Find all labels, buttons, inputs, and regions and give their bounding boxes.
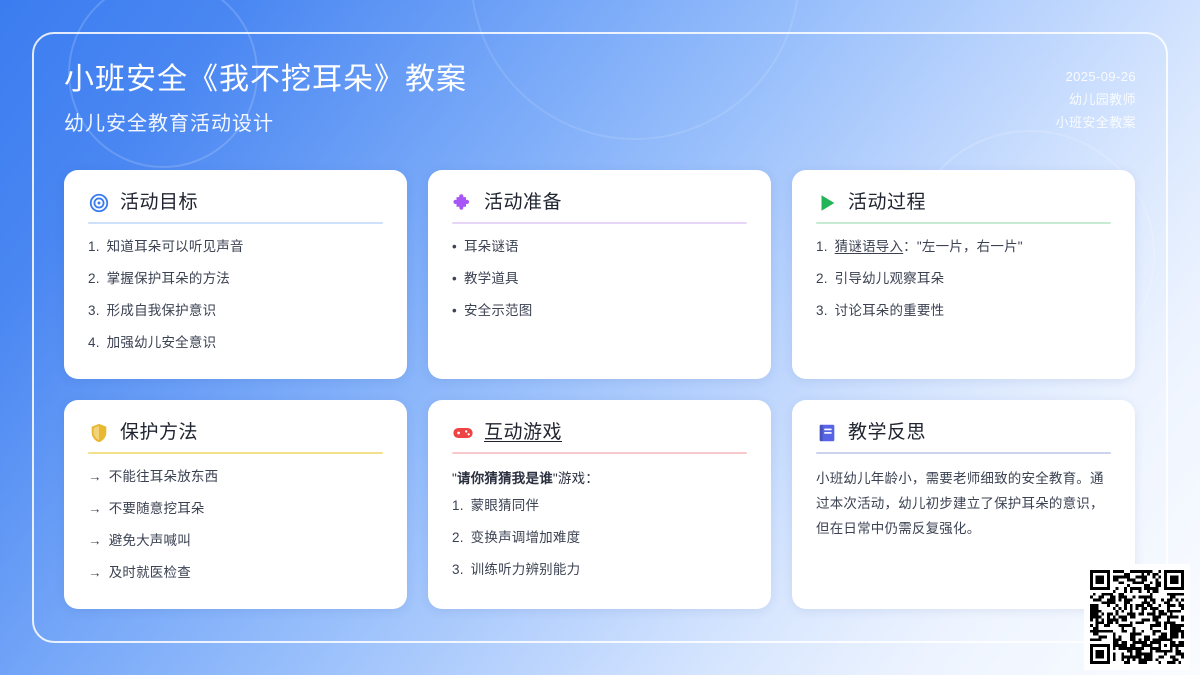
card-item-list: 1.知道耳朵可以听见声音2.掌握保护耳朵的方法3.形成自我保护意识4.加强幼儿安… — [88, 237, 383, 354]
list-item-text: 变换声调增加难度 — [471, 528, 581, 549]
list-marker: 4. — [88, 333, 100, 354]
list-item-text: 训练听力辨别能力 — [471, 560, 581, 581]
card-accent-rule — [88, 222, 383, 224]
card-item-list: →不能往耳朵放东西→不要随意挖耳朵→避免大声喊叫→及时就医检查 — [88, 467, 383, 584]
list-item: 1.知道耳朵可以听见声音 — [88, 237, 383, 258]
card-accent-rule — [88, 452, 383, 454]
list-item-text: 教学道具 — [464, 269, 519, 290]
game-lead-text: "请你猜猜我是谁"游戏： — [452, 467, 747, 487]
list-item-text: 安全示范图 — [464, 301, 533, 322]
shield-icon — [88, 422, 110, 444]
card-accent-rule — [452, 222, 747, 224]
list-item-text: 掌握保护耳朵的方法 — [107, 269, 230, 290]
list-item-text: 加强幼儿安全意识 — [107, 333, 217, 354]
target-icon — [88, 192, 110, 214]
header: 小班安全《我不挖耳朵》教案 幼儿安全教育活动设计 2025-09-26 幼儿园教… — [64, 52, 1136, 152]
meta-category: 小班安全教案 — [1056, 112, 1136, 135]
qr-code-container — [1084, 564, 1190, 670]
list-item: 3.讨论耳朵的重要性 — [816, 301, 1111, 322]
meta-date: 2025-09-26 — [1056, 66, 1136, 89]
card-accent-rule — [452, 452, 747, 454]
list-marker: 1. — [816, 237, 828, 258]
page-title: 小班安全《我不挖耳朵》教案 — [64, 60, 467, 99]
list-marker: 1. — [88, 237, 100, 258]
puzzle-icon — [452, 192, 474, 214]
game-name: 请你猜猜我是谁 — [457, 471, 553, 486]
list-marker: • — [452, 301, 457, 322]
list-item-text: 耳朵谜语 — [464, 237, 519, 258]
card-title: 活动目标 — [120, 192, 198, 215]
card-header: 活动过程 — [816, 192, 1111, 215]
card-process: 活动过程1.猜谜语导入："左一片，右一片"2.引导幼儿观察耳朵3.讨论耳朵的重要… — [792, 170, 1135, 379]
list-marker: 3. — [88, 301, 100, 322]
list-marker: 2. — [816, 269, 828, 290]
book-icon — [816, 422, 838, 444]
list-item-text: 猜谜语导入："左一片，右一片" — [835, 237, 1023, 258]
list-marker: 3. — [816, 301, 828, 322]
list-marker: → — [88, 467, 102, 488]
card-item-list: 1.猜谜语导入："左一片，右一片"2.引导幼儿观察耳朵3.讨论耳朵的重要性 — [816, 237, 1111, 322]
meta-author: 幼儿园教师 — [1056, 89, 1136, 112]
list-item: 2.掌握保护耳朵的方法 — [88, 269, 383, 290]
list-marker: • — [452, 237, 457, 258]
list-item: •教学道具 — [452, 269, 747, 290]
card-game: 互动游戏"请你猜猜我是谁"游戏：1.蒙眼猜同伴2.变换声调增加难度3.训练听力辨… — [428, 400, 771, 609]
list-item: 2.引导幼儿观察耳朵 — [816, 269, 1111, 290]
card-paragraph: 小班幼儿年龄小，需要老师细致的安全教育。通过本次活动，幼儿初步建立了保护耳朵的意… — [816, 467, 1111, 542]
list-item: 1.猜谜语导入："左一片，右一片" — [816, 237, 1111, 258]
list-marker: 3. — [452, 560, 464, 581]
list-marker: → — [88, 499, 102, 520]
card-title: 活动过程 — [848, 192, 926, 215]
list-item: •耳朵谜语 — [452, 237, 747, 258]
card-header: 保护方法 — [88, 422, 383, 445]
list-item: →不能往耳朵放东西 — [88, 467, 383, 488]
list-marker: 2. — [88, 269, 100, 290]
header-title-block: 小班安全《我不挖耳朵》教案 幼儿安全教育活动设计 — [64, 52, 467, 136]
list-item: 3.形成自我保护意识 — [88, 301, 383, 322]
page-subtitle: 幼儿安全教育活动设计 — [64, 107, 467, 136]
list-item: 2.变换声调增加难度 — [452, 528, 747, 549]
card-accent-rule — [816, 222, 1111, 224]
list-marker: → — [88, 563, 102, 584]
card-item-list: •耳朵谜语•教学道具•安全示范图 — [452, 237, 747, 322]
list-item-text: 及时就医检查 — [109, 563, 191, 584]
list-item: →及时就医检查 — [88, 563, 383, 584]
card-header: 教学反思 — [816, 422, 1111, 445]
card-accent-rule — [816, 452, 1111, 454]
list-marker: 2. — [452, 528, 464, 549]
qr-code[interactable] — [1090, 570, 1184, 664]
card-header: 活动准备 — [452, 192, 747, 215]
card-title: 活动准备 — [484, 192, 562, 215]
play-icon — [816, 192, 838, 214]
list-item: 3.训练听力辨别能力 — [452, 560, 747, 581]
list-item-text: 不要随意挖耳朵 — [109, 499, 205, 520]
card-title: 教学反思 — [848, 422, 926, 445]
gamepad-icon — [452, 422, 474, 444]
list-item-text: 蒙眼猜同伴 — [471, 496, 540, 517]
card-header: 互动游戏 — [452, 422, 747, 445]
list-item-text: 不能往耳朵放东西 — [109, 467, 219, 488]
list-item: 4.加强幼儿安全意识 — [88, 333, 383, 354]
card-item-list: 1.蒙眼猜同伴2.变换声调增加难度3.训练听力辨别能力 — [452, 496, 747, 581]
list-item-text: 避免大声喊叫 — [109, 531, 191, 552]
list-item: →不要随意挖耳朵 — [88, 499, 383, 520]
card-title: 互动游戏 — [484, 422, 562, 445]
list-item-text: 知道耳朵可以听见声音 — [107, 237, 244, 258]
header-meta: 2025-09-26 幼儿园教师 小班安全教案 — [1056, 52, 1136, 134]
list-marker: 1. — [452, 496, 464, 517]
slide-page: 小班安全《我不挖耳朵》教案 幼儿安全教育活动设计 2025-09-26 幼儿园教… — [0, 0, 1200, 675]
card-grid: 活动目标1.知道耳朵可以听见声音2.掌握保护耳朵的方法3.形成自我保护意识4.加… — [64, 170, 1136, 609]
list-item-text: 形成自我保护意识 — [107, 301, 217, 322]
list-item: →避免大声喊叫 — [88, 531, 383, 552]
card-header: 活动目标 — [88, 192, 383, 215]
list-item-text: 讨论耳朵的重要性 — [835, 301, 945, 322]
list-item: •安全示范图 — [452, 301, 747, 322]
list-marker: → — [88, 531, 102, 552]
card-objectives: 活动目标1.知道耳朵可以听见声音2.掌握保护耳朵的方法3.形成自我保护意识4.加… — [64, 170, 407, 379]
list-marker: • — [452, 269, 457, 290]
card-title: 保护方法 — [120, 422, 198, 445]
card-protection: 保护方法→不能往耳朵放东西→不要随意挖耳朵→避免大声喊叫→及时就医检查 — [64, 400, 407, 609]
list-item: 1.蒙眼猜同伴 — [452, 496, 747, 517]
list-item-text: 引导幼儿观察耳朵 — [835, 269, 945, 290]
card-preparation: 活动准备•耳朵谜语•教学道具•安全示范图 — [428, 170, 771, 379]
